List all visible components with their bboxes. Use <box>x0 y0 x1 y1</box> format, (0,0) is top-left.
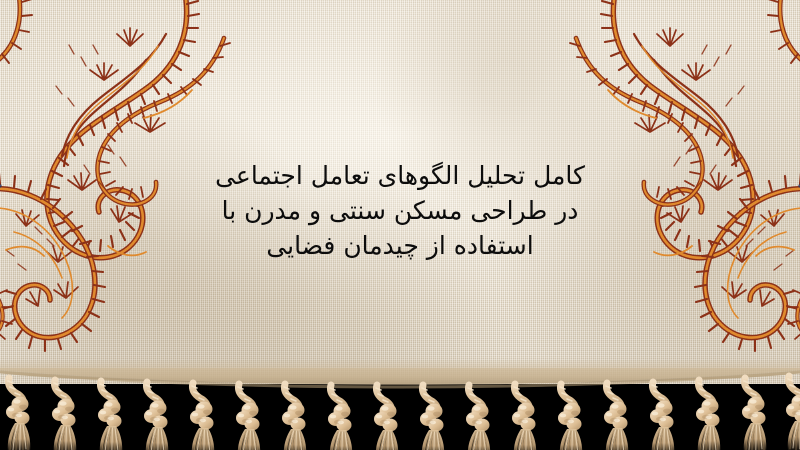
title-line-2: در طراحی مسکن سنتی و مدرن با <box>170 193 630 228</box>
slide-canvas: کامل تحلیل الگوهای تعامل اجتماعی در طراح… <box>0 0 800 450</box>
title-line-1: کامل تحلیل الگوهای تعامل اجتماعی <box>170 158 630 193</box>
slide-title: کامل تحلیل الگوهای تعامل اجتماعی در طراح… <box>170 158 630 263</box>
black-background-band <box>0 384 800 450</box>
title-line-3: استفاده از چیدمان فضایی <box>170 228 630 263</box>
cloth-bottom-hem <box>0 358 800 384</box>
